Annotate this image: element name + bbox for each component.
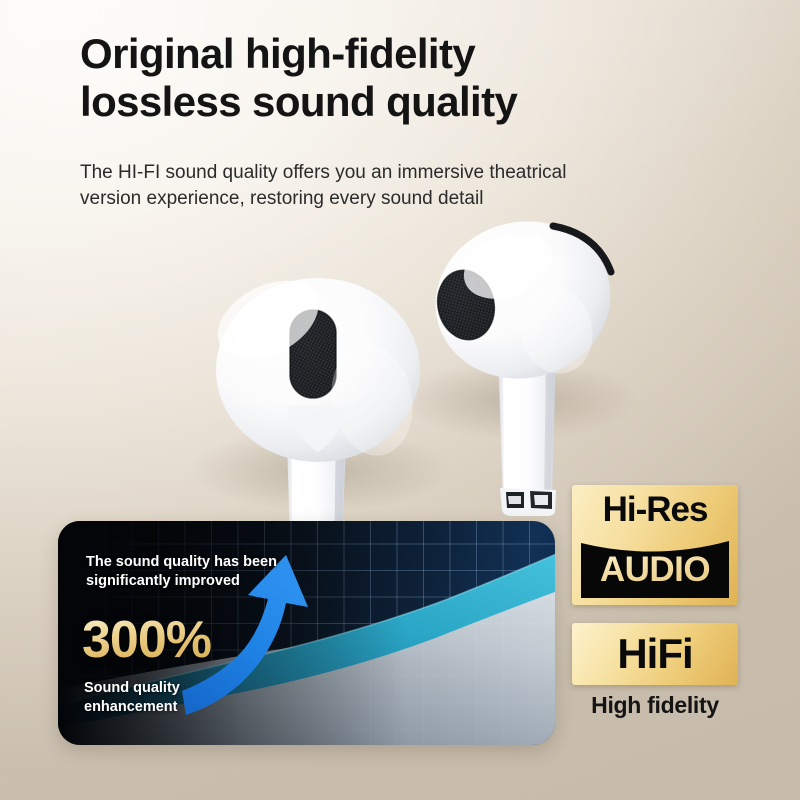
headline-line-2: lossless sound quality <box>80 78 720 126</box>
panel-caption-top-line-2: significantly improved <box>86 572 336 591</box>
hi-res-label: Hi-Res <box>572 487 738 533</box>
subhead-line-2: version experience, restoring every soun… <box>80 186 720 212</box>
earbud-back-icon <box>419 203 628 516</box>
page-subtitle: The HI-FI sound quality offers you an im… <box>80 160 720 212</box>
audio-label: AUDIO <box>581 547 729 593</box>
page-title: Original high-fidelity lossless sound qu… <box>80 30 720 126</box>
panel-caption-bottom-line-2: enhancement <box>84 698 264 717</box>
stat-value: 300% <box>82 614 211 666</box>
panel-caption-bottom: Sound quality enhancement <box>84 679 264 717</box>
hi-res-audio-badge-icon: Hi-Res AUDIO <box>572 485 738 605</box>
product-marketing-image: Original high-fidelity lossless sound qu… <box>0 0 800 800</box>
hi-res-black-band: AUDIO <box>581 531 729 598</box>
sound-quality-chart-panel: The sound quality has been significantly… <box>58 521 555 745</box>
hifi-badge-icon: HiFi <box>572 623 738 685</box>
panel-caption-top-line-1: The sound quality has been <box>86 554 277 570</box>
high-fidelity-caption: High fidelity <box>572 692 738 719</box>
panel-caption-top: The sound quality has been significantly… <box>86 553 336 591</box>
headline-line-1: Original high-fidelity <box>80 30 475 77</box>
subhead-line-1: The HI-FI sound quality offers you an im… <box>80 162 566 183</box>
panel-caption-bottom-line-1: Sound quality <box>84 680 180 696</box>
hifi-label: HiFi <box>617 633 692 675</box>
certification-badges: Hi-Res AUDIO HiFi High fidelity <box>572 485 738 719</box>
